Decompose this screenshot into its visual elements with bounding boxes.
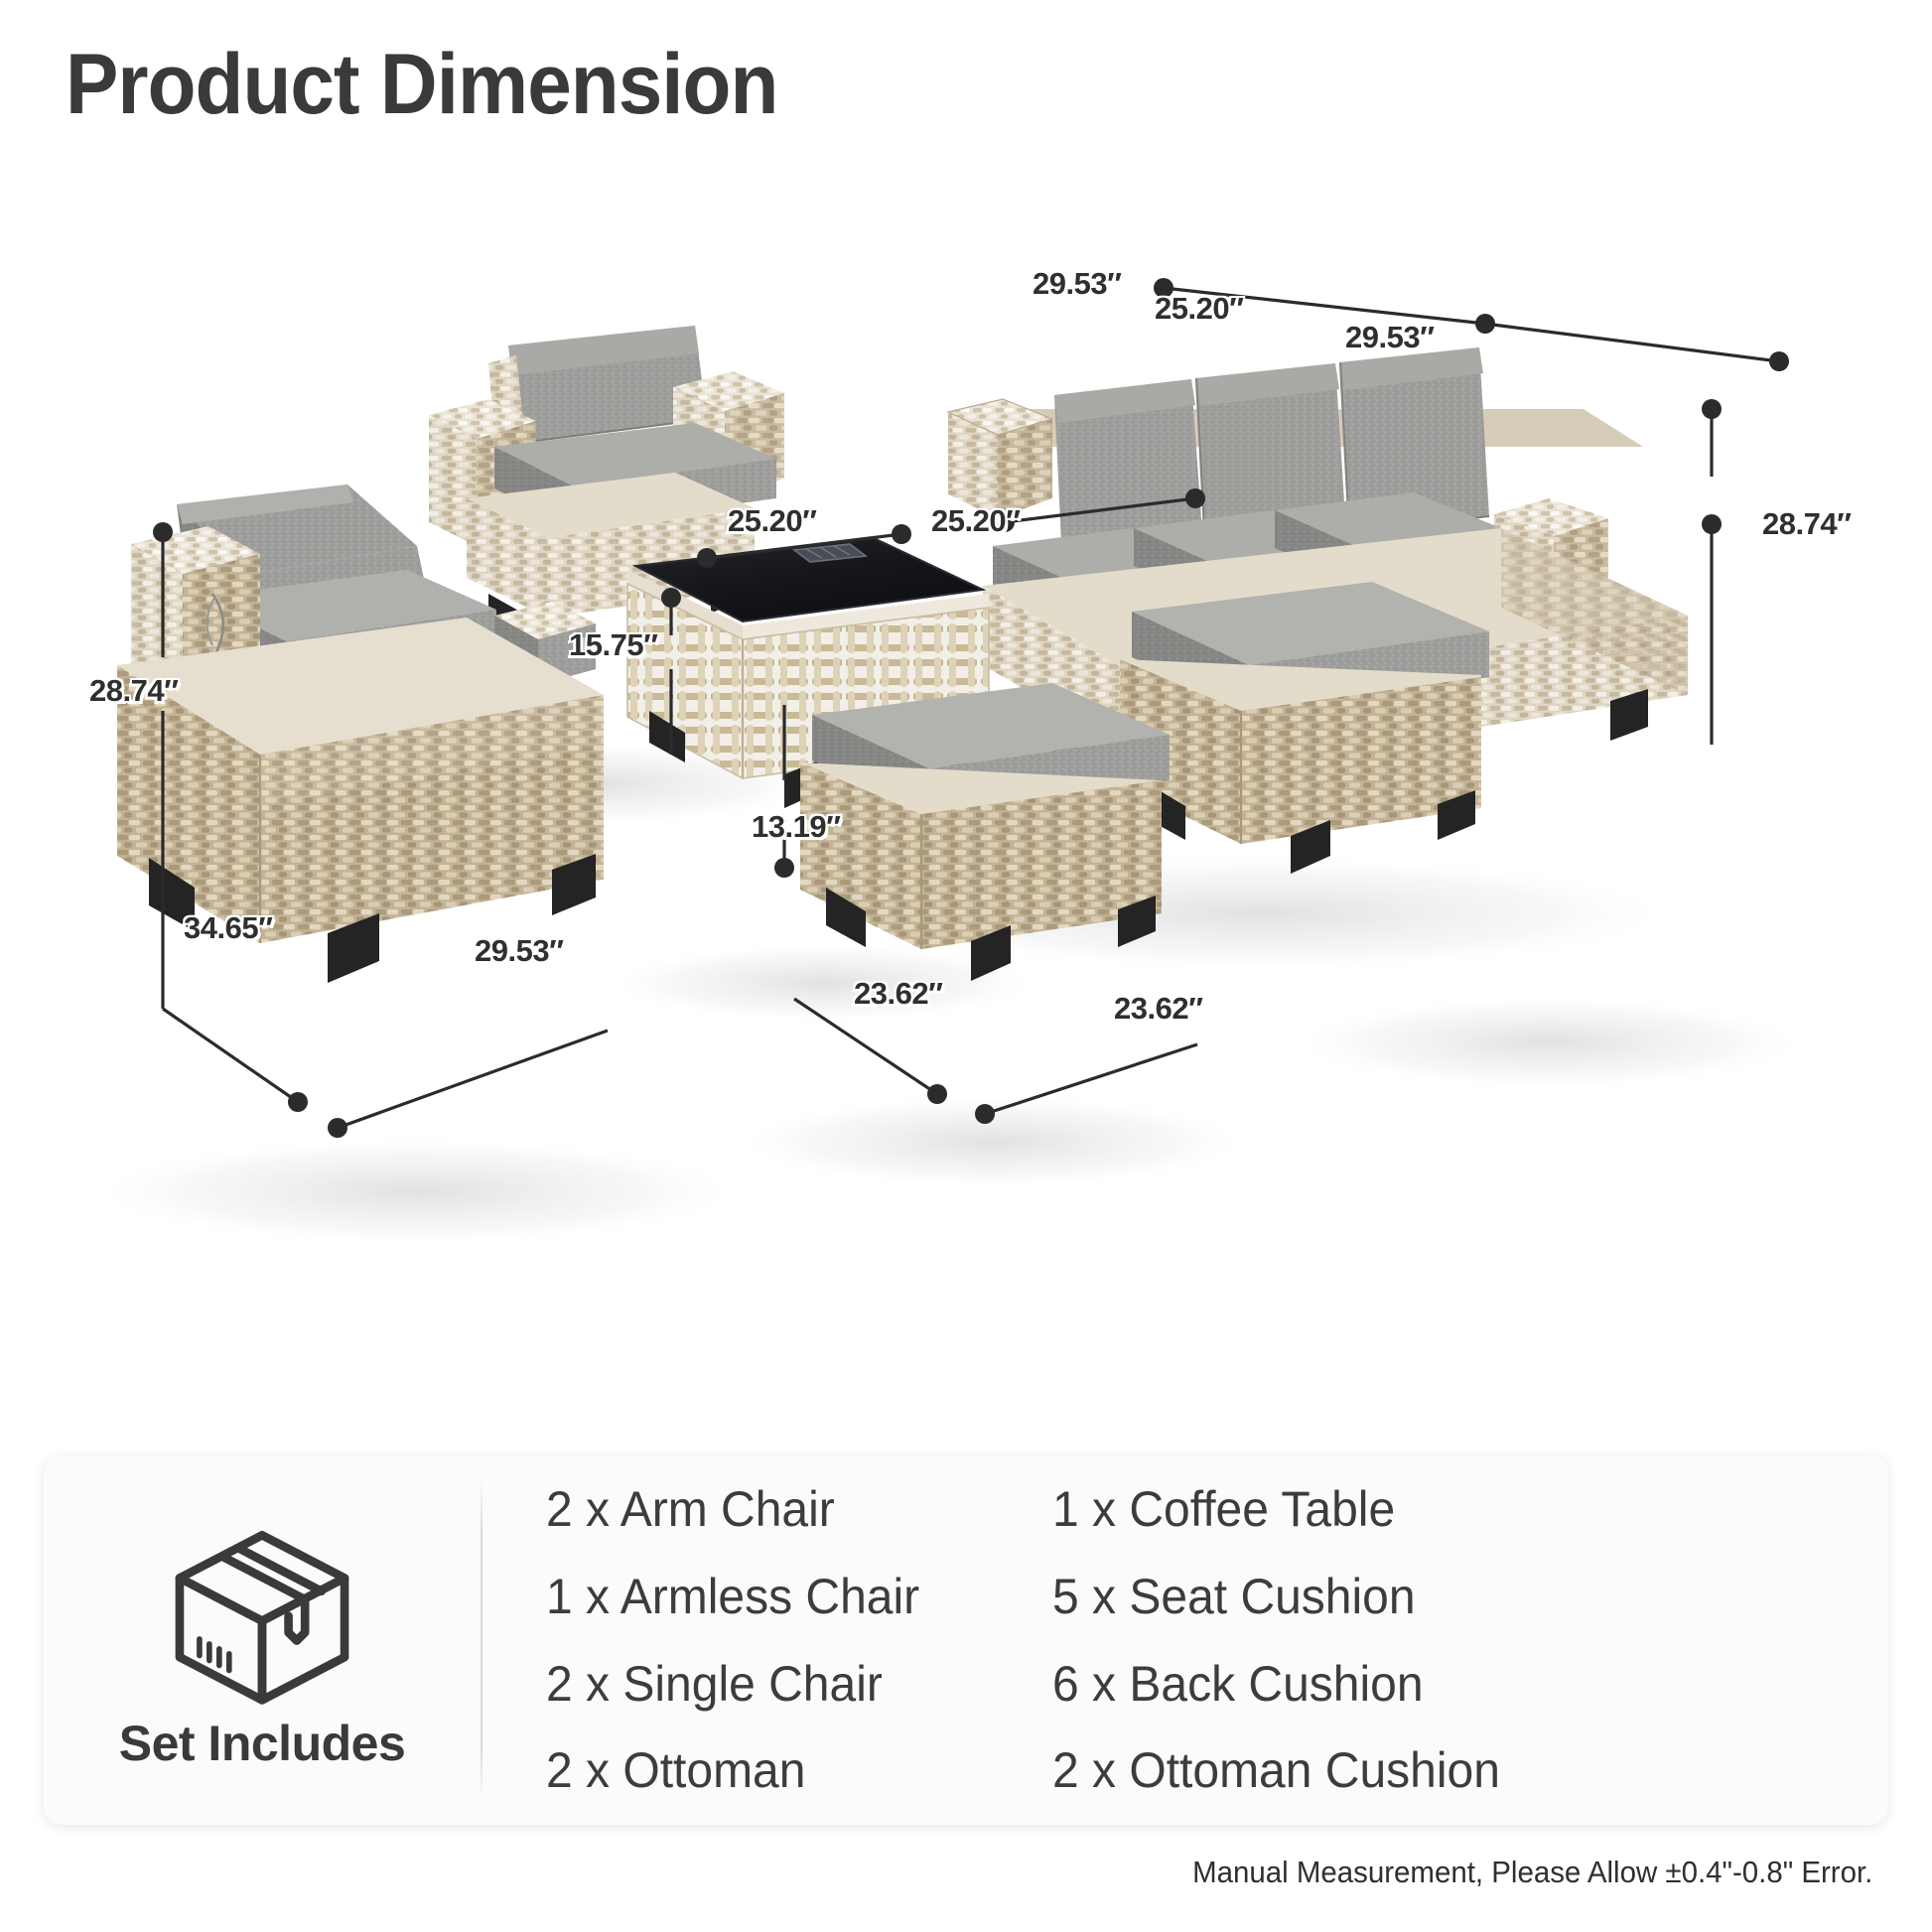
measurement-disclaimer: Manual Measurement, Please Allow ±0.4"-0… — [1192, 1855, 1872, 1890]
list-item: 2 x Single Chair — [546, 1658, 1033, 1711]
set-includes-branding: Set Includes — [44, 1455, 481, 1825]
list-item: 2 x Ottoman Cushion — [1052, 1744, 1855, 1797]
furniture-illustration — [0, 149, 1932, 1400]
dim-label-ottoman-height: 13.19″ — [752, 809, 840, 845]
dim-label-sofa-height: 28.74″ — [1762, 506, 1851, 542]
dim-label-sofa-mid-seat-width: 25.20″ — [1155, 291, 1243, 327]
dim-label-coffee-table-height: 15.75″ — [569, 627, 657, 663]
sofa-left-arm — [948, 399, 1052, 518]
list-item: 1 x Coffee Table — [1052, 1483, 1855, 1536]
dim-label-sofa-left-seat-width: 29.53″ — [1033, 266, 1121, 302]
list-item: 2 x Arm Chair — [546, 1483, 1033, 1536]
page-title: Product Dimension — [66, 36, 777, 134]
dim-label-ottoman-depth: 23.62″ — [854, 976, 942, 1012]
product-scene: 29.53″ 25.20″ 29.53″ 28.74″ 25.20″ 25.20… — [0, 149, 1932, 1400]
list-item: 1 x Armless Chair — [546, 1571, 1033, 1623]
dim-label-single-chair-width: 25.20″ — [931, 503, 1020, 539]
product-dimension-page: Product Dimension — [0, 0, 1932, 1932]
shipping-box-icon — [163, 1522, 361, 1707]
dim-label-ottoman-width: 23.62″ — [1114, 991, 1202, 1027]
set-includes-lists: 2 x Arm Chair 1 x Armless Chair 2 x Sing… — [483, 1455, 1888, 1825]
list-item: 5 x Seat Cushion — [1052, 1571, 1855, 1623]
list-item: 6 x Back Cushion — [1052, 1658, 1855, 1711]
dim-label-armless-chair-width: 25.20″ — [728, 503, 816, 539]
list-item: 2 x Ottoman — [546, 1744, 1033, 1797]
set-includes-card: Set Includes 2 x Arm Chair 1 x Armless C… — [44, 1455, 1888, 1825]
dim-label-arm-chair-height: 28.74″ — [89, 673, 178, 709]
includes-column-left: 2 x Arm Chair 1 x Armless Chair 2 x Sing… — [546, 1483, 1052, 1797]
includes-column-right: 1 x Coffee Table 5 x Seat Cushion 6 x Ba… — [1052, 1483, 1888, 1797]
ottoman-right — [1120, 582, 1489, 874]
dim-label-arm-chair-width: 29.53″ — [475, 933, 563, 969]
set-includes-title: Set Includes — [119, 1715, 406, 1772]
dim-label-sofa-right-seat-width: 29.53″ — [1345, 320, 1434, 355]
dim-label-arm-chair-depth: 34.65″ — [184, 910, 272, 946]
